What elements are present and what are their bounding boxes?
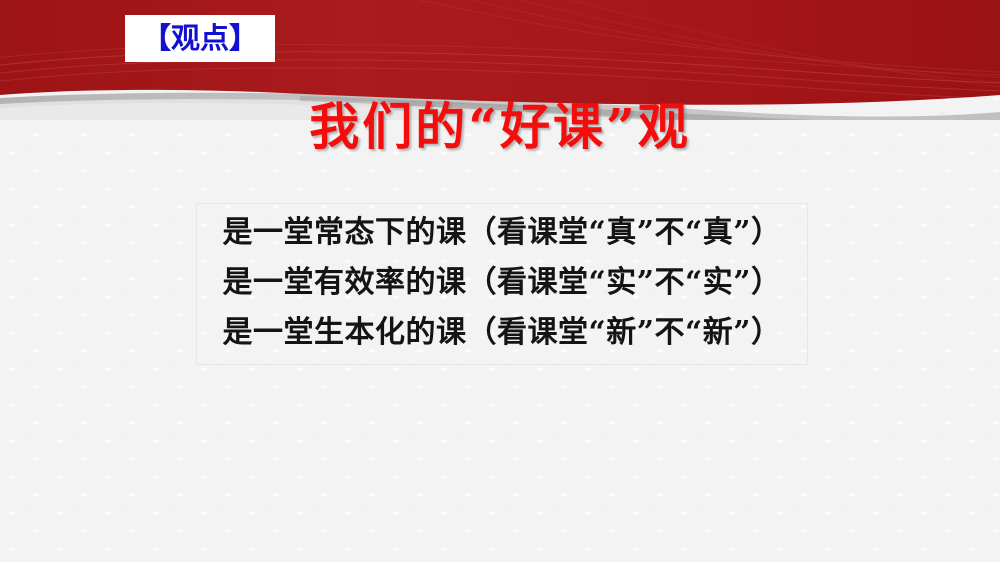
body-line: 是一堂有效率的课（看课堂“实”不“实”）: [197, 258, 807, 308]
slide-canvas: 【观点】 我们的“好课”观 是一堂常态下的课（看课堂“真”不“真”） 是一堂有效…: [0, 0, 1000, 562]
body-line: 是一堂常态下的课（看课堂“真”不“真”）: [197, 208, 807, 258]
viewpoint-badge-label: 【观点】: [142, 24, 258, 53]
body-line: 是一堂生本化的课（看课堂“新”不“新”）: [197, 308, 807, 358]
viewpoint-badge: 【观点】: [125, 15, 275, 62]
body-text-block: 是一堂常态下的课（看课堂“真”不“真”） 是一堂有效率的课（看课堂“实”不“实”…: [196, 203, 808, 365]
slide-title: 我们的“好课”观: [0, 98, 1000, 156]
